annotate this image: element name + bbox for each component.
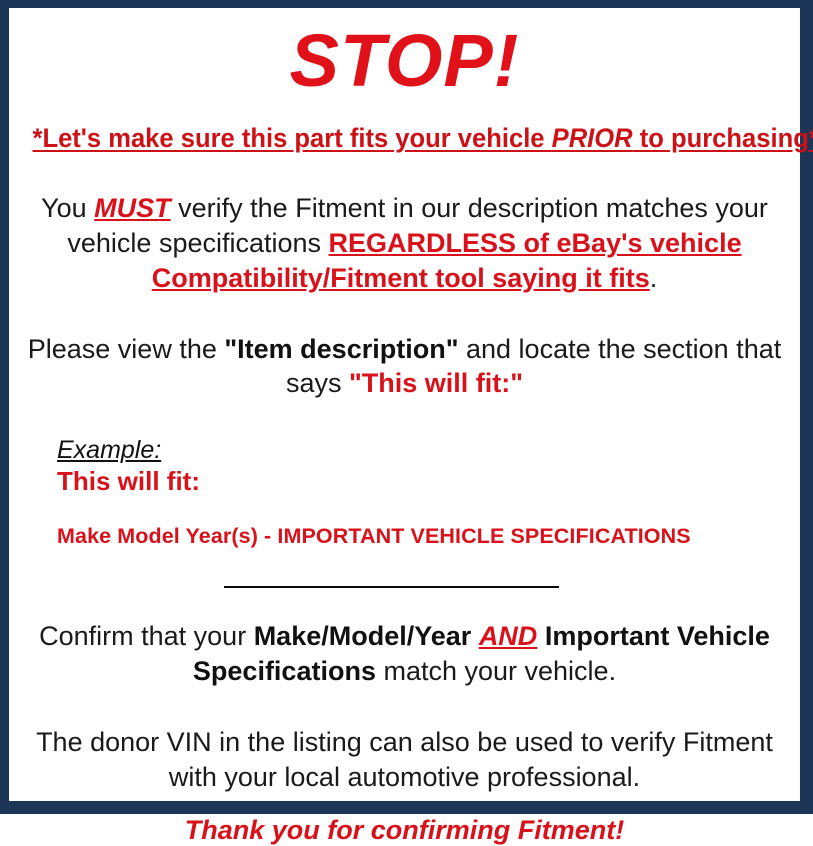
page-title: STOP! <box>19 24 790 98</box>
example-fit-heading: This will fit: <box>57 467 790 497</box>
fitment-notice-frame: STOP! *Let's make sure this part fits yo… <box>0 0 813 814</box>
para1-must-emphasis: MUST <box>94 193 171 223</box>
subtitle-part-1: *Let's make sure this part fits your veh… <box>32 123 551 153</box>
subtitle-prior-emphasis: PRIOR <box>552 123 633 153</box>
para1-text-3: . <box>650 263 658 293</box>
para1-text-1: You <box>41 193 94 223</box>
section-divider <box>19 575 790 593</box>
para2-text-1: Please view the <box>28 334 225 364</box>
example-label: Example: <box>57 437 790 463</box>
notice-content: STOP! *Let's make sure this part fits yo… <box>9 24 800 817</box>
paragraph-item-description: Please view the "Item description" and l… <box>19 332 790 402</box>
closing-thank-you: Thank you for confirming Fitment! <box>19 816 790 846</box>
divider-rule-line <box>224 586 559 588</box>
para2-this-will-fit-emphasis: "This will fit:" <box>349 368 523 398</box>
para3-text-3 <box>537 621 545 651</box>
para2-item-description-emphasis: "Item description" <box>224 334 458 364</box>
subtitle-banner: *Let's make sure this part fits your veh… <box>32 124 776 153</box>
para3-make-model-year-emphasis: Make/Model/Year <box>254 621 472 651</box>
paragraph-donor-vin: The donor VIN in the listing can also be… <box>19 725 790 795</box>
para3-and-emphasis: AND <box>479 621 538 651</box>
para3-text-4: match your vehicle. <box>376 656 616 686</box>
para3-text-2 <box>471 621 479 651</box>
subtitle-part-3: to purchasing* <box>633 123 813 153</box>
example-block: Example: This will fit: Make Model Year(… <box>19 437 790 549</box>
para3-text-1: Confirm that your <box>39 621 254 651</box>
paragraph-verify-fitment: You MUST verify the Fitment in our descr… <box>19 191 790 295</box>
example-spec-line: Make Model Year(s) - IMPORTANT VEHICLE S… <box>57 525 790 549</box>
para4-text-1: The donor VIN in the listing can also be… <box>36 727 773 792</box>
paragraph-confirm-match: Confirm that your Make/Model/Year AND Im… <box>19 619 790 689</box>
